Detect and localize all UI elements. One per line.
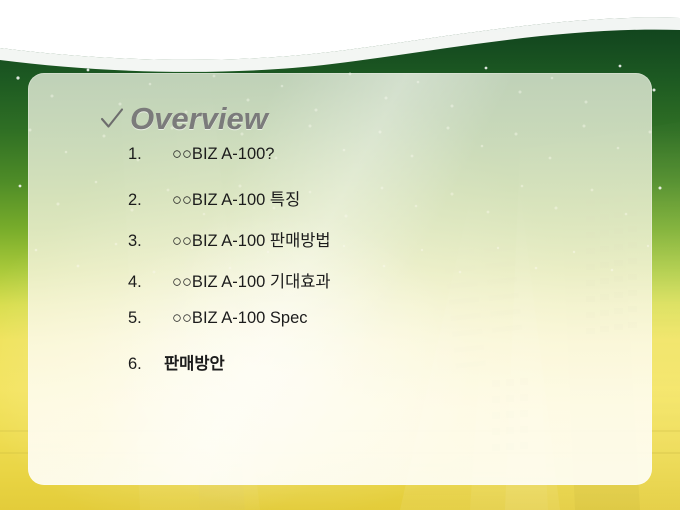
list-item-label: ○○BIZ A-100 Spec [172,309,308,328]
list-item[interactable]: 5. ○○BIZ A-100 Spec [128,309,628,350]
presentation-slide: Overview 1. ○○BIZ A-100? 2. ○○BIZ A-100 … [0,0,680,510]
list-item[interactable]: 6. 판매방안 [128,350,628,391]
slide-title-row: Overview [100,103,268,134]
page-title: Overview [130,103,268,134]
list-item-label: ○○BIZ A-100? [172,145,274,164]
overview-list: 1. ○○BIZ A-100? 2. ○○BIZ A-100 특징 3. ○○B… [128,145,628,391]
list-item-number: 2. [128,191,158,210]
list-item-number: 6. [128,355,158,374]
checkmark-icon [100,106,124,132]
list-item-number: 4. [128,273,158,292]
list-item[interactable]: 4. ○○BIZ A-100 기대효과 [128,268,628,309]
content-panel: Overview 1. ○○BIZ A-100? 2. ○○BIZ A-100 … [28,73,652,485]
list-item-number: 5. [128,309,158,328]
list-item[interactable]: 1. ○○BIZ A-100? [128,145,628,186]
list-item[interactable]: 2. ○○BIZ A-100 특징 [128,186,628,227]
list-item-label: 판매방안 [164,350,225,374]
list-item-number: 1. [128,145,158,164]
list-item-number: 3. [128,232,158,251]
list-item-label: ○○BIZ A-100 판매방법 [172,227,331,251]
list-item-label: ○○BIZ A-100 기대효과 [172,268,331,292]
list-item-label: ○○BIZ A-100 특징 [172,186,300,210]
list-item[interactable]: 3. ○○BIZ A-100 판매방법 [128,227,628,268]
